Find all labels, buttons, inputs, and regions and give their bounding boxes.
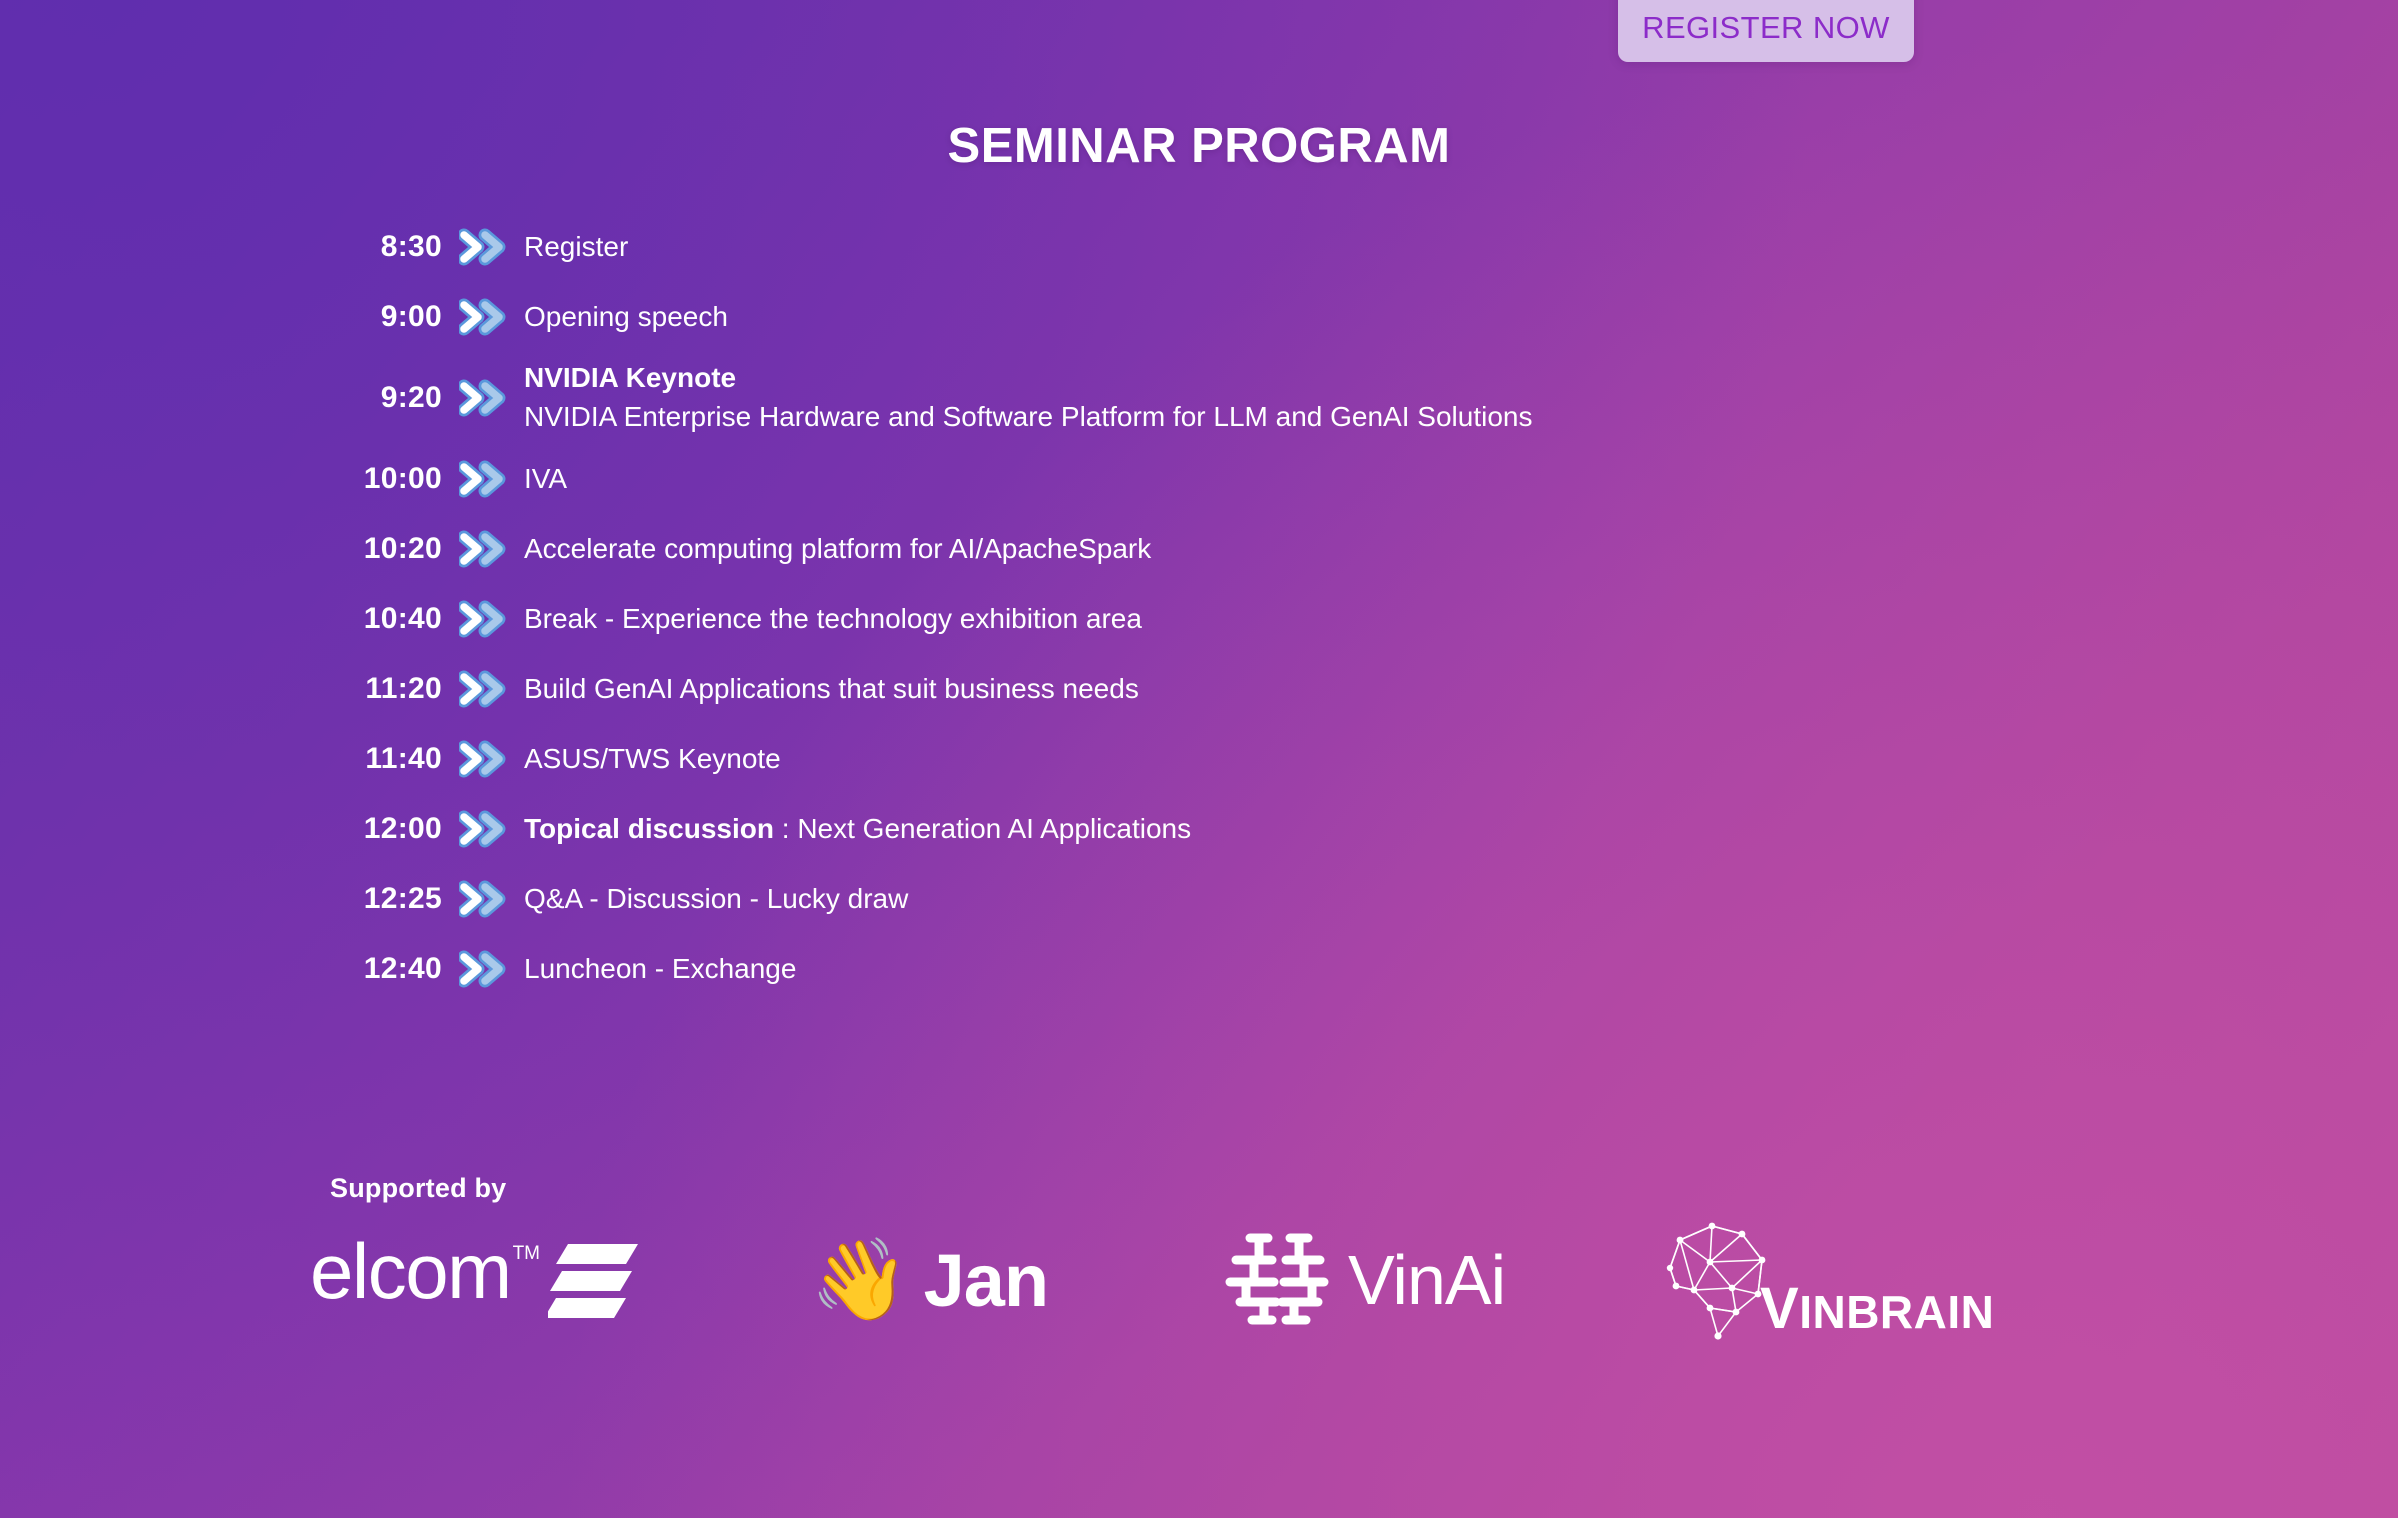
- double-chevron-right-icon: [442, 739, 518, 779]
- elcom-trademark: TM: [513, 1244, 540, 1263]
- double-chevron-right-icon: [442, 669, 518, 709]
- agenda-row-title: Q&A - Discussion - Lucky draw: [524, 880, 2030, 919]
- elcom-e-bars-icon: [548, 1242, 640, 1325]
- jan-wordmark: Jan: [924, 1238, 1049, 1323]
- agenda-row-body: Q&A - Discussion - Lucky draw: [518, 880, 2030, 919]
- agenda-row-body: Register: [518, 228, 2030, 267]
- double-chevron-right-icon: [442, 378, 518, 418]
- vinai-circuit-icon: [1220, 1222, 1336, 1339]
- sponsor-logo-vinai[interactable]: VinAi: [1190, 1215, 1630, 1345]
- agenda-row: 12:00Topical discussion : Next Generatio…: [330, 794, 2030, 864]
- agenda-row-title-lead: Topical discussion: [524, 813, 774, 844]
- double-chevron-right-icon: [442, 599, 518, 639]
- agenda-row-title: ASUS/TWS Keynote: [524, 740, 2030, 779]
- vinbrain-wordmark: VINBRAIN: [1760, 1275, 1994, 1342]
- vinbrain-wordmark-cap: V: [1760, 1276, 1799, 1341]
- agenda-row-body: ASUS/TWS Keynote: [518, 740, 2030, 779]
- sponsor-logo-vinbrain[interactable]: VINBRAIN: [1630, 1215, 2060, 1345]
- agenda-row-time: 12:40: [330, 952, 442, 986]
- agenda-row-title-rest: : Next Generation AI Applications: [774, 813, 1191, 844]
- supported-by-label: Supported by: [330, 1173, 506, 1204]
- agenda-row-body: IVA: [518, 460, 2030, 499]
- double-chevron-right-icon: [442, 879, 518, 919]
- agenda-row-title: Opening speech: [524, 298, 2030, 337]
- agenda-row: 11:20Build GenAI Applications that suit …: [330, 654, 2030, 724]
- sponsor-logo-elcom[interactable]: elcom TM: [310, 1215, 780, 1345]
- double-chevron-right-icon: [442, 949, 518, 989]
- agenda-row-body: Accelerate computing platform for AI/Apa…: [518, 530, 2030, 569]
- double-chevron-right-icon: [442, 297, 518, 337]
- agenda-row-body: NVIDIA KeynoteNVIDIA Enterprise Hardware…: [518, 359, 2030, 436]
- agenda-row-title: IVA: [524, 460, 2030, 499]
- agenda-row-time: 9:20: [330, 381, 442, 415]
- agenda-row-time: 8:30: [330, 230, 442, 264]
- agenda-row: 10:20Accelerate computing platform for A…: [330, 514, 2030, 584]
- agenda-row-title: Accelerate computing platform for AI/Apa…: [524, 530, 2030, 569]
- agenda-row: 10:00IVA: [330, 444, 2030, 514]
- agenda-row-time: 10:40: [330, 602, 442, 636]
- agenda-row: 12:40Luncheon - Exchange: [330, 934, 2030, 1004]
- agenda-row-title: Register: [524, 228, 2030, 267]
- sponsor-logo-jan[interactable]: 👋 Jan: [780, 1215, 1190, 1345]
- agenda-row-time: 9:00: [330, 300, 442, 334]
- agenda-row: 12:25Q&A - Discussion - Lucky draw: [330, 864, 2030, 934]
- agenda-row-time: 11:20: [330, 672, 442, 706]
- page-title: SEMINAR PROGRAM: [0, 118, 2398, 174]
- agenda-row: 9:20NVIDIA KeynoteNVIDIA Enterprise Hard…: [330, 352, 2030, 444]
- agenda-row-time: 12:25: [330, 882, 442, 916]
- agenda-row-body: Opening speech: [518, 298, 2030, 337]
- vinai-wordmark: VinAi: [1348, 1240, 1505, 1320]
- agenda-row-body: Break - Experience the technology exhibi…: [518, 600, 2030, 639]
- agenda-row-title: NVIDIA Keynote: [524, 359, 2030, 398]
- agenda-row-time: 12:00: [330, 812, 442, 846]
- agenda-row-title: Luncheon - Exchange: [524, 950, 2030, 989]
- agenda-row: 11:40ASUS/TWS Keynote: [330, 724, 2030, 794]
- elcom-wordmark: elcom: [310, 1236, 511, 1308]
- agenda-row: 9:00Opening speech: [330, 282, 2030, 352]
- agenda-row-body: Topical discussion : Next Generation AI …: [518, 810, 2030, 849]
- agenda-row-body: Luncheon - Exchange: [518, 950, 2030, 989]
- register-now-button[interactable]: REGISTER NOW: [1618, 0, 1914, 62]
- agenda-row-title: Topical discussion : Next Generation AI …: [524, 810, 2030, 849]
- seminar-program-page: { "header": { "register_button_label": "…: [0, 0, 2398, 1518]
- double-chevron-right-icon: [442, 809, 518, 849]
- agenda-row: 8:30Register: [330, 212, 2030, 282]
- agenda-row-title: Build GenAI Applications that suit busin…: [524, 670, 2030, 709]
- agenda-row-time: 11:40: [330, 742, 442, 776]
- double-chevron-right-icon: [442, 459, 518, 499]
- agenda-row-title: Break - Experience the technology exhibi…: [524, 600, 2030, 639]
- agenda-row: 10:40Break - Experience the technology e…: [330, 584, 2030, 654]
- waving-hand-emoji: 👋: [810, 1240, 910, 1320]
- sponsor-logo-row: elcom TM 👋 Jan: [310, 1215, 2330, 1345]
- double-chevron-right-icon: [442, 227, 518, 267]
- agenda-row-time: 10:00: [330, 462, 442, 496]
- vinbrain-wordmark-rest: INBRAIN: [1799, 1286, 1994, 1338]
- agenda-row-body: Build GenAI Applications that suit busin…: [518, 670, 2030, 709]
- double-chevron-right-icon: [442, 529, 518, 569]
- agenda-row-time: 10:20: [330, 532, 442, 566]
- agenda-row-subtitle: NVIDIA Enterprise Hardware and Software …: [524, 398, 2030, 437]
- agenda-list: 8:30Register9:00Opening speech9:20NVIDIA…: [330, 212, 2030, 1004]
